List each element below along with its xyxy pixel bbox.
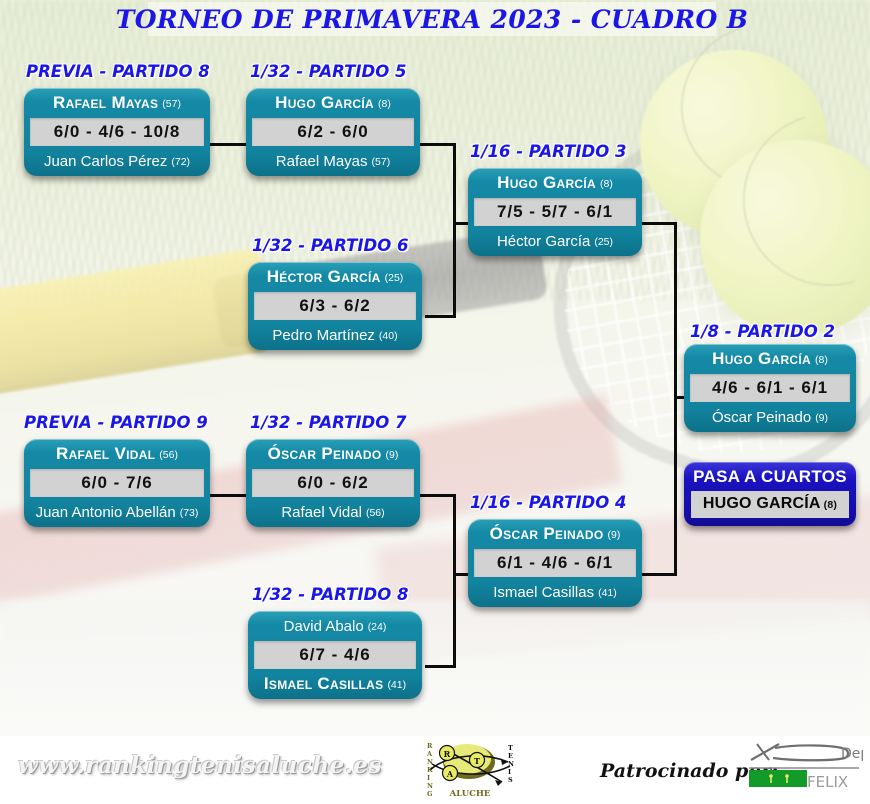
sponsor-word-felix: FELIX [807, 773, 848, 791]
svg-text:K: K [427, 766, 433, 774]
svg-text:N: N [427, 782, 433, 790]
match-player-top: Hugo García (8) [468, 168, 642, 198]
match-player-bottom: Ismael Casillas (41) [248, 669, 422, 699]
svg-text:I: I [427, 774, 430, 782]
player-seed: (9) [386, 449, 399, 461]
match-player-bottom: Pedro Martínez (40) [248, 320, 422, 350]
player-seed: (41) [598, 587, 617, 599]
svg-text:T: T [474, 756, 480, 766]
round-label-previa-9: PREVIA - PARTIDO 9 [24, 413, 208, 432]
player-seed: (41) [387, 679, 406, 691]
qualify-box[interactable]: PASA A CUARTOS HUGO GARCÍA(8) [684, 462, 856, 526]
match-player-bottom: Rafael Vidal (56) [246, 497, 420, 527]
qualify-player: HUGO GARCÍA(8) [691, 491, 849, 518]
round-label-r16-3: 1/16 - PARTIDO 3 [470, 142, 626, 161]
match-player-top: Hugo García (8) [246, 88, 420, 118]
svg-text:A: A [446, 769, 454, 779]
player-name: Pedro Martínez [272, 327, 375, 344]
player-seed: (40) [379, 330, 398, 342]
player-seed: (8) [824, 499, 837, 511]
deportes-felix-logo: Deportes FELIX [745, 740, 863, 792]
match-score: 6/7 - 4/6 [254, 641, 416, 669]
player-name: Ismael Casillas [493, 584, 594, 601]
match-player-top: Óscar Peinado (9) [468, 519, 642, 549]
player-name: Óscar Peinado [268, 444, 382, 464]
round-label-r16-4: 1/16 - PARTIDO 4 [470, 493, 626, 512]
svg-text:G: G [427, 790, 433, 798]
match-player-top: Héctor García (25) [248, 262, 422, 292]
match-score: 7/5 - 5/7 - 6/1 [474, 198, 636, 226]
website-text: www.rankingtenisaluche.es [18, 752, 382, 779]
qualify-label: PASA A CUARTOS [691, 467, 849, 487]
match-player-top: Hugo García (8) [684, 344, 856, 374]
match-player-bottom: Juan Antonio Abellán (73) [24, 497, 210, 527]
svg-text:T: T [508, 744, 513, 752]
player-name: Rafael Vidal [281, 504, 362, 521]
player-seed: (56) [159, 449, 178, 461]
match-score: 6/0 - 4/6 - 10/8 [30, 118, 204, 146]
player-seed: (57) [372, 156, 391, 168]
player-seed: (25) [594, 236, 613, 248]
match-player-bottom: Óscar Peinado (9) [684, 402, 856, 432]
player-seed: (72) [171, 156, 190, 168]
round-label-previa-8: PREVIA - PARTIDO 8 [26, 62, 210, 81]
match-player-bottom: Ismael Casillas (41) [468, 577, 642, 607]
match-score: 6/3 - 6/2 [254, 292, 416, 320]
round-label-r32-5: 1/32 - PARTIDO 5 [250, 62, 406, 81]
player-name: Juan Carlos Pérez [44, 153, 167, 170]
svg-text:R: R [427, 742, 433, 750]
match-box-r32-6[interactable]: Héctor García (25) 6/3 - 6/2 Pedro Martí… [248, 262, 422, 350]
match-score: 6/2 - 6/0 [252, 118, 414, 146]
svg-text:I: I [508, 768, 511, 776]
match-player-top: Rafael Vidal (56) [24, 439, 210, 469]
player-name: Rafael Mayas [53, 93, 158, 113]
match-box-r32-7[interactable]: Óscar Peinado (9) 6/0 - 6/2 Rafael Vidal… [246, 439, 420, 527]
round-label-r32-7: 1/32 - PARTIDO 7 [250, 413, 406, 432]
svg-text:S: S [508, 776, 513, 784]
player-name: HUGO GARCÍA [703, 495, 821, 512]
match-box-previa-9[interactable]: Rafael Vidal (56) 6/0 - 7/6 Juan Antonio… [24, 439, 210, 527]
match-box-previa-8[interactable]: Rafael Mayas (57) 6/0 - 4/6 - 10/8 Juan … [24, 88, 210, 176]
player-seed: (24) [368, 621, 387, 633]
player-name: Héctor García [267, 267, 381, 287]
player-seed: (57) [162, 98, 181, 110]
svg-text:N: N [427, 758, 433, 766]
match-box-r32-5[interactable]: Hugo García (8) 6/2 - 6/0 Rafael Mayas (… [246, 88, 420, 176]
svg-text:R: R [444, 749, 451, 759]
match-player-top: Óscar Peinado (9) [246, 439, 420, 469]
match-box-r32-8[interactable]: David Abalo (24) 6/7 - 4/6 Ismael Casill… [248, 611, 422, 699]
player-seed: (25) [385, 272, 404, 284]
match-player-bottom: Rafael Mayas (57) [246, 146, 420, 176]
player-name: Hugo García [712, 349, 811, 369]
player-seed: (8) [600, 178, 613, 190]
match-score: 6/0 - 7/6 [30, 469, 204, 497]
svg-text:ALUCHE: ALUCHE [449, 789, 491, 798]
player-name: Óscar Peinado [712, 409, 811, 426]
player-name: Hugo García [497, 173, 596, 193]
player-seed: (9) [608, 529, 621, 541]
svg-text:N: N [508, 760, 514, 768]
round-label-r32-6: 1/32 - PARTIDO 6 [252, 236, 408, 255]
match-score: 6/1 - 4/6 - 6/1 [474, 549, 636, 577]
svg-text:E: E [508, 752, 513, 760]
match-box-r16-3[interactable]: Hugo García (8) 7/5 - 5/7 - 6/1 Héctor G… [468, 168, 642, 256]
player-name: Rafael Mayas [276, 153, 368, 170]
player-seed: (8) [378, 98, 391, 110]
match-player-top: David Abalo (24) [248, 611, 422, 641]
match-score: 6/0 - 6/2 [252, 469, 414, 497]
player-seed: (73) [180, 507, 199, 519]
player-name: David Abalo [284, 618, 364, 635]
match-player-bottom: Juan Carlos Pérez (72) [24, 146, 210, 176]
player-seed: (9) [815, 412, 828, 424]
player-name: Juan Antonio Abellán [36, 504, 176, 521]
player-name: Hugo García [275, 93, 374, 113]
round-label-r32-8: 1/32 - PARTIDO 8 [252, 585, 408, 604]
match-player-top: Rafael Mayas (57) [24, 88, 210, 118]
player-seed: (56) [366, 507, 385, 519]
svg-text:A: A [426, 750, 433, 758]
player-name: Ismael Casillas [264, 674, 384, 694]
player-name: Héctor García [497, 233, 590, 250]
tournament-bracket-page: TORNEO DE PRIMAVERA 2023 - CUADRO B PREV… [0, 0, 870, 804]
sponsor-word-deportes: Deportes [841, 746, 863, 762]
ranking-tenis-aluche-logo: R T A R A N K I N G T E N I S ALUCHE [422, 736, 518, 798]
player-seed: (8) [815, 354, 828, 366]
player-name: Rafael Vidal [56, 444, 155, 464]
match-box-r8-2[interactable]: Hugo García (8) 4/6 - 6/1 - 6/1 Óscar Pe… [684, 344, 856, 432]
match-player-bottom: Héctor García (25) [468, 226, 642, 256]
player-name: Óscar Peinado [490, 524, 604, 544]
match-score: 4/6 - 6/1 - 6/1 [690, 374, 850, 402]
round-label-r8-2: 1/8 - PARTIDO 2 [690, 322, 835, 341]
match-box-r16-4[interactable]: Óscar Peinado (9) 6/1 - 4/6 - 6/1 Ismael… [468, 519, 642, 607]
